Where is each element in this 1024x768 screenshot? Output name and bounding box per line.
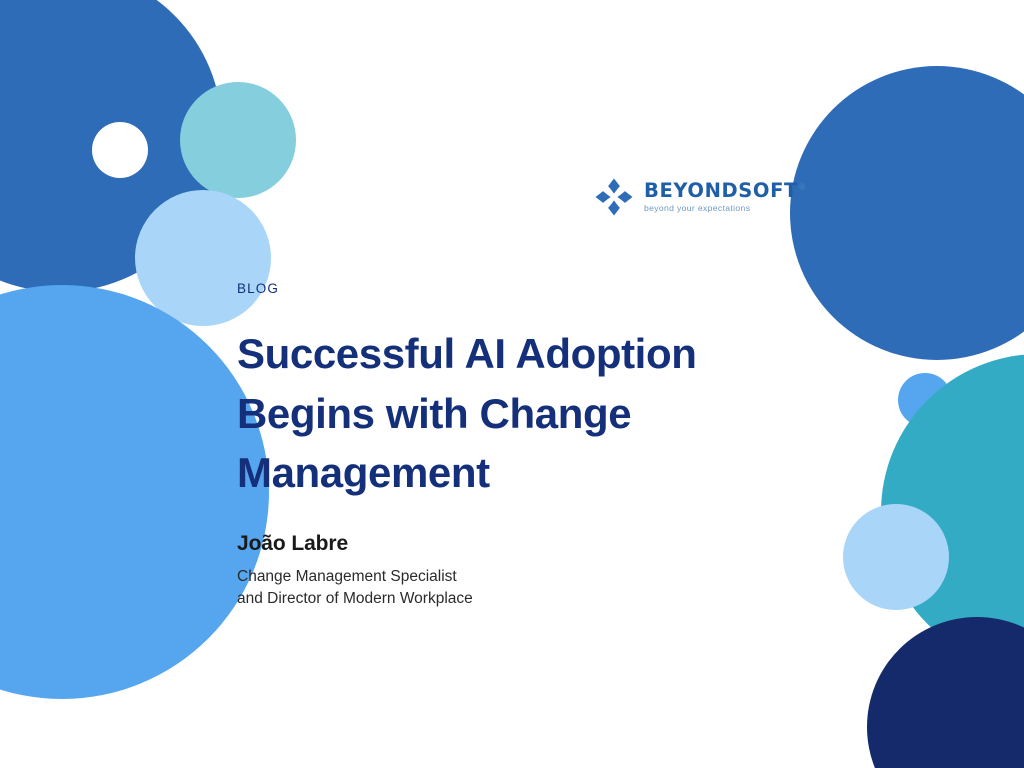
- beyondsoft-four-diamond-mark-icon: [593, 176, 635, 218]
- cover-text-block: BLOG Successful AI Adoption Begins with …: [237, 281, 777, 610]
- circle-pale-teal-upper: [180, 82, 296, 198]
- logo-tagline: beyond your expectations: [644, 204, 806, 213]
- circle-top-left-white-dot: [92, 122, 148, 178]
- circle-blue-right-large: [790, 66, 1024, 360]
- blog-cover-slide: BEYONDSOFT® beyond your expectations BLO…: [0, 0, 1024, 768]
- author-name: João Labre: [237, 532, 777, 556]
- logo-wordmark: BEYONDSOFT®: [644, 181, 806, 201]
- registered-trademark-icon: ®: [798, 182, 806, 191]
- logo-text-block: BEYONDSOFT® beyond your expectations: [644, 181, 806, 213]
- circle-bright-blue-left-large: [0, 285, 269, 699]
- logo-wordmark-text: BEYONDSOFT: [644, 179, 798, 202]
- author-role: Change Management Specialist and Directo…: [237, 566, 777, 610]
- circle-navy-bottom-right: [867, 617, 1024, 768]
- circle-light-blue-lower-right: [843, 504, 949, 610]
- page-title: Successful AI Adoption Begins with Chang…: [237, 324, 747, 503]
- beyondsoft-logo: BEYONDSOFT® beyond your expectations: [593, 176, 806, 218]
- category-label: BLOG: [237, 281, 777, 296]
